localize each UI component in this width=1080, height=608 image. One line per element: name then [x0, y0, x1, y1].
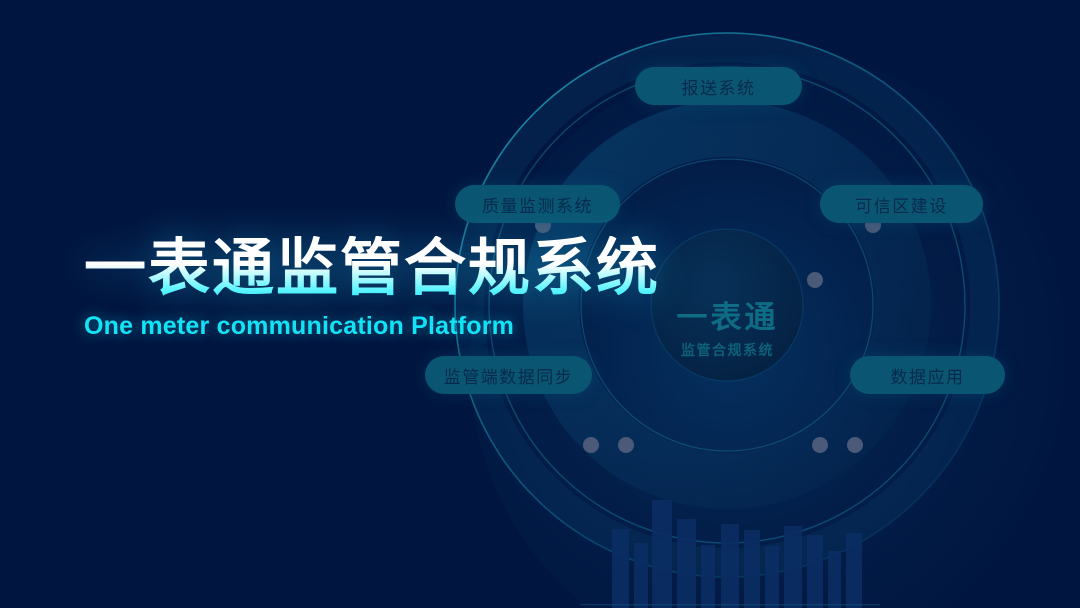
decor-bar: [765, 546, 779, 608]
headline-block: 一表通监管合规系统 One meter communication Platfo…: [84, 236, 724, 341]
decor-bar: [721, 524, 739, 608]
decor-baseline: [580, 604, 880, 605]
hub-subtitle: 监管合规系统: [645, 340, 810, 360]
node-pill-trusted[interactable]: 可信区建设: [820, 185, 983, 223]
decor-bar: [744, 530, 760, 608]
decor-bar: [807, 535, 823, 608]
connector-dot: [847, 437, 863, 453]
decor-bar: [677, 519, 696, 608]
connector-dot: [618, 437, 634, 453]
headline-title: 一表通监管合规系统: [84, 236, 724, 303]
connector-dot: [812, 437, 828, 453]
node-pill-data[interactable]: 数据应用: [850, 356, 1005, 394]
decor-bar: [634, 543, 648, 608]
node-pill-sync[interactable]: 监管端数据同步: [425, 356, 592, 394]
decor-bar: [828, 551, 841, 608]
node-pill-quality[interactable]: 质量监测系统: [455, 185, 620, 223]
decor-bar: [701, 545, 715, 608]
headline-subtitle: One meter communication Platform: [84, 312, 724, 341]
decor-bar: [846, 533, 862, 608]
decor-bar: [784, 526, 802, 608]
connector-dot: [583, 437, 599, 453]
slide-root: 一表通 监管合规系统 报送系统 质量监测系统 可信区建设 监管端数据同步 数据应…: [0, 0, 1080, 608]
decor-bar: [652, 500, 672, 608]
connector-dot: [807, 272, 823, 288]
node-pill-report[interactable]: 报送系统: [635, 67, 802, 105]
decor-bar: [612, 529, 629, 608]
